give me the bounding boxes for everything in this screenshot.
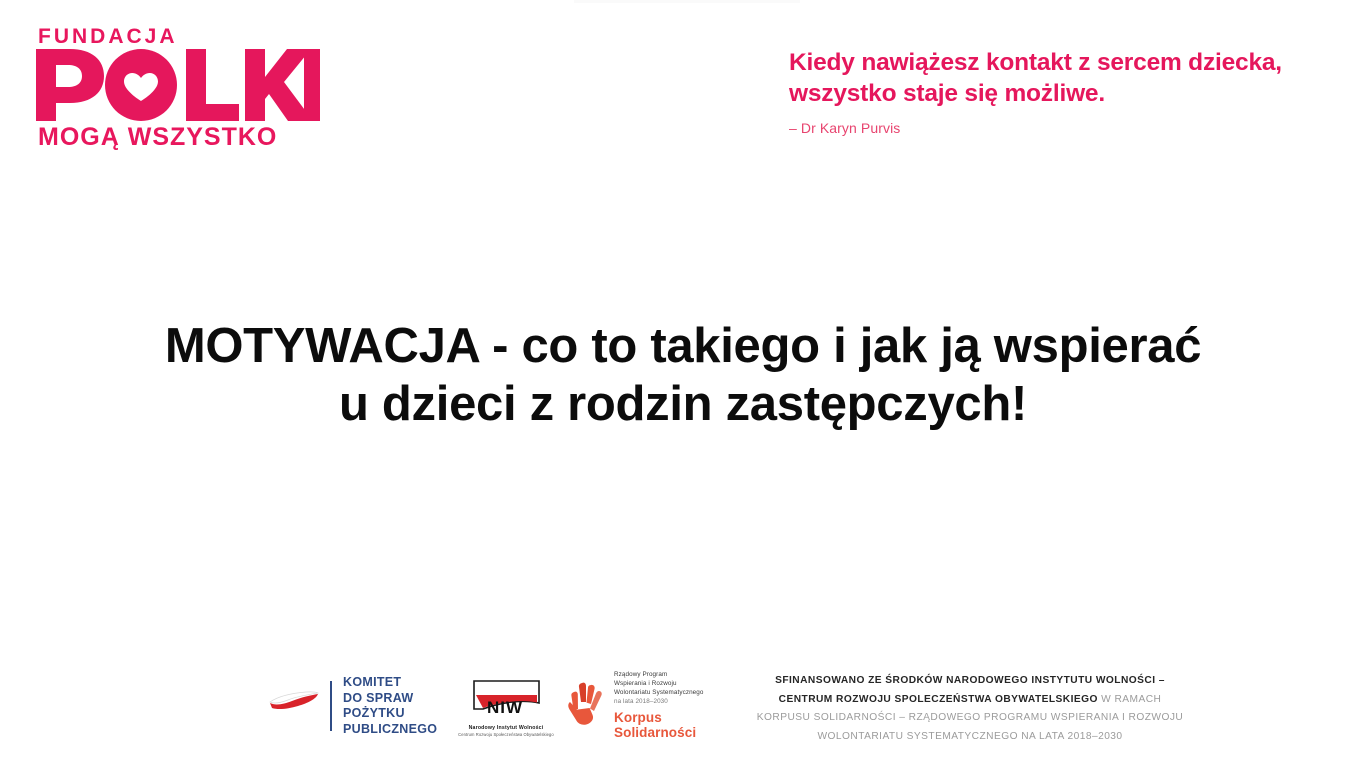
polki-letter-i (304, 49, 320, 121)
quote-line-1: Kiedy nawiążesz kontakt z sercem dziecka… (789, 47, 1349, 78)
komitet-divider (330, 681, 332, 731)
funding-statement: SFINANSOWANO ZE ŚRODKÓW NARODOWEGO INSTY… (740, 672, 1200, 746)
funding-line-4: WOLONTARIATU SYSTEMATYCZNEGO NA LATA 201… (740, 728, 1200, 747)
presentation-slide: FUNDACJA MOGĄ WSZYSTKO Kiedy naw (0, 0, 1366, 768)
komitet-text: KOMITET DO SPRAW POŻYTKU PUBLICZNEGO (343, 675, 437, 737)
funding-line-2-bold: CENTRUM ROZWOJU SPOLECZEŃSTWA OBYWATELSK… (779, 694, 1098, 705)
komitet-line-1: KOMITET (343, 675, 437, 691)
korpus-name: Korpus Solidarności (614, 710, 703, 740)
korpus-name-line-2: Solidarności (614, 725, 703, 740)
komitet-logo: KOMITET DO SPRAW POŻYTKU PUBLICZNEGO (268, 672, 437, 740)
quote-author: – Dr Karyn Purvis (789, 120, 1349, 136)
korpus-program-line-4: na lata 2018–2030 (614, 698, 703, 707)
hand-icon (565, 680, 605, 731)
korpus-program-line-3: Wolontariatu Systematycznego (614, 689, 703, 698)
slide-title-line-1: MOTYWACJA - co to takiego i jak ją wspie… (0, 318, 1366, 376)
svg-text:NIW: NIW (487, 698, 523, 717)
korpus-program-line-2: Wspierania i Rozwoju (614, 680, 703, 689)
korpus-program-text: Rządowy Program Wspierania i Rozwoju Wol… (614, 671, 703, 707)
niw-subtitle-2: Centrum Rozwoju Społeczeństwa Obywatelsk… (458, 732, 554, 737)
top-chrome-sliver (574, 0, 800, 3)
korpus-solidarnosci-logo: Rządowy Program Wspierania i Rozwoju Wol… (565, 671, 703, 740)
foundation-logo: FUNDACJA MOGĄ WSZYSTKO (36, 26, 336, 150)
komitet-line-2: DO SPRAW (343, 691, 437, 707)
slide-title: MOTYWACJA - co to takiego i jak ją wspie… (0, 318, 1366, 434)
funding-line-2-rest: W RAMACH (1098, 694, 1161, 705)
funding-line-1-bold: SFINANSOWANO ZE ŚRODKÓW NARODOWEGO INSTY… (775, 675, 1165, 686)
slide-title-line-2: u dzieci z rodzin zastępczych! (0, 376, 1366, 434)
niw-mark-svg: NIW (461, 673, 551, 717)
polki-wordmark-svg (36, 49, 304, 121)
niw-logo: NIW Narodowy Instytut Wolności Centrum R… (458, 673, 554, 737)
funding-line-3: KORPUSU SOLIDARNOŚCI – RZĄDOWEGO PROGRAM… (740, 709, 1200, 728)
funding-line-1: SFINANSOWANO ZE ŚRODKÓW NARODOWEGO INSTY… (740, 672, 1200, 691)
quote-line-2: wszystko staje się możliwe. (789, 78, 1349, 109)
korpus-program-line-1: Rządowy Program (614, 671, 703, 680)
komitet-line-4: PUBLICZNEGO (343, 722, 437, 738)
logo-line-fundacja: FUNDACJA (38, 26, 336, 47)
komitet-line-3: POŻYTKU (343, 706, 437, 722)
quote-block: Kiedy nawiążesz kontakt z sercem dziecka… (789, 47, 1349, 136)
polish-flag-icon (268, 689, 320, 724)
logo-wordmark-polki (36, 49, 336, 121)
korpus-text: Rządowy Program Wspierania i Rozwoju Wol… (614, 671, 703, 740)
korpus-name-line-1: Korpus (614, 710, 703, 725)
funding-line-2: CENTRUM ROZWOJU SPOLECZEŃSTWA OBYWATELSK… (740, 691, 1200, 710)
logo-line-moga-wszystko: MOGĄ WSZYSTKO (38, 125, 336, 150)
footer-logo-bar: KOMITET DO SPRAW POŻYTKU PUBLICZNEGO NIW… (0, 670, 1366, 750)
niw-subtitle-1: Narodowy Instytut Wolności (458, 725, 554, 732)
